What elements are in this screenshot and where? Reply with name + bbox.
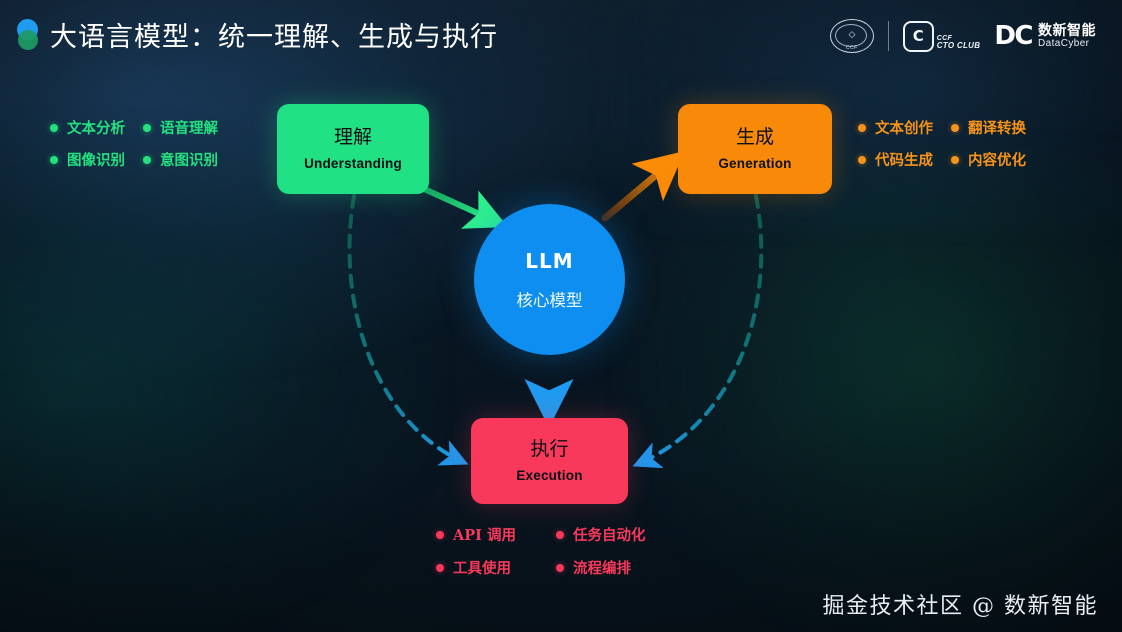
node-execution-label-en: Execution xyxy=(516,468,582,483)
logo-divider xyxy=(888,21,889,51)
bullet-item: 翻译转换 xyxy=(951,117,1026,138)
bullet-dot-icon xyxy=(50,124,58,132)
node-llm-label-cn: 核心模型 xyxy=(517,287,583,311)
bullet-dot-icon xyxy=(50,156,58,164)
cto-club-wordmark: CCF CTO CLUB xyxy=(937,35,981,52)
node-generation[interactable]: 生成 Generation xyxy=(678,104,832,194)
watermark-credit: 掘金技术社区 @ 数新智能 xyxy=(823,588,1099,620)
bullet-item: 流程编排 xyxy=(556,557,646,578)
datacyber-mark-icon: DC xyxy=(994,23,1032,49)
bullet-item: 工具使用 xyxy=(436,557,516,578)
bullet-dot-icon xyxy=(556,564,564,572)
bullet-item: 意图识别 xyxy=(143,149,218,170)
node-llm-label-en: LLM xyxy=(525,249,573,273)
bullet-item: 代码生成 xyxy=(858,149,933,170)
bullet-group-generation: 文本创作 翻译转换 代码生成 内容优化 xyxy=(858,117,1026,170)
bullet-dot-icon xyxy=(143,124,151,132)
slide-header: 大语言模型：统一理解、生成与执行 ◇ CCF C CCF CTO CLUB DC… xyxy=(0,0,1122,74)
node-execution-label-cn: 执行 xyxy=(530,439,568,460)
node-understanding[interactable]: 理解 Understanding xyxy=(277,104,429,194)
datacyber-logo: DC 数新智能 DataCyber xyxy=(994,23,1096,49)
logo-circle-green xyxy=(18,30,38,50)
bullet-dot-icon xyxy=(436,564,444,572)
bullet-label: API 调用 xyxy=(453,524,516,545)
cto-club-line2: CTO CLUB xyxy=(937,42,981,50)
bullet-dot-icon xyxy=(436,531,444,539)
bullet-label: 语音理解 xyxy=(160,117,218,138)
bullet-label: 文本分析 xyxy=(67,117,125,138)
bullet-group-understanding: 文本分析 语音理解 图像识别 意图识别 xyxy=(50,117,218,170)
bullet-label: 内容优化 xyxy=(968,149,1026,170)
node-execution[interactable]: 执行 Execution xyxy=(471,418,628,504)
node-llm-core[interactable]: LLM 核心模型 xyxy=(474,204,625,355)
bullet-item: 文本创作 xyxy=(858,117,933,138)
bullet-dot-icon xyxy=(951,156,959,164)
ccf-cto-club-logo: C CCF CTO CLUB xyxy=(903,21,981,52)
node-generation-label-en: Generation xyxy=(718,156,791,171)
slide-canvas: 大语言模型：统一理解、生成与执行 ◇ CCF C CCF CTO CLUB DC… xyxy=(0,0,1122,632)
node-understanding-label-cn: 理解 xyxy=(334,127,372,148)
bullet-group-execution: API 调用 任务自动化 工具使用 流程编排 xyxy=(436,524,645,578)
bullet-dot-icon xyxy=(556,531,564,539)
bullet-item: 文本分析 xyxy=(50,117,125,138)
bullet-label: 文本创作 xyxy=(875,117,933,138)
ccf-emblem-caption: CCF xyxy=(831,45,873,51)
bullet-item: 内容优化 xyxy=(951,149,1026,170)
ccf-emblem-inner-glyph: ◇ xyxy=(849,31,855,40)
datacyber-name-cn: 数新智能 xyxy=(1038,23,1096,38)
bullet-dot-icon xyxy=(143,156,151,164)
bullet-item: 图像识别 xyxy=(50,149,125,170)
bullet-label: 意图识别 xyxy=(160,149,218,170)
bullet-dot-icon xyxy=(858,124,866,132)
bullet-label: 工具使用 xyxy=(453,557,511,578)
bullet-label: 图像识别 xyxy=(67,149,125,170)
cto-club-badge-icon: C xyxy=(903,21,934,52)
bullet-label: 翻译转换 xyxy=(968,117,1026,138)
node-understanding-label-en: Understanding xyxy=(304,156,402,171)
bullet-dot-icon xyxy=(858,156,866,164)
datacyber-name-en: DataCyber xyxy=(1038,38,1096,49)
datacyber-wordmark: 数新智能 DataCyber xyxy=(1038,23,1096,49)
ccf-emblem-icon: ◇ CCF xyxy=(830,19,874,53)
bullet-item: 语音理解 xyxy=(143,117,218,138)
page-title: 大语言模型：统一理解、生成与执行 xyxy=(50,15,498,54)
bullet-dot-icon xyxy=(951,124,959,132)
bullet-label: 流程编排 xyxy=(573,557,631,578)
bullet-label: 代码生成 xyxy=(875,149,933,170)
bullet-item: API 调用 xyxy=(436,524,516,545)
bullet-item: 任务自动化 xyxy=(556,524,646,545)
overlapping-circles-logo-icon xyxy=(17,19,39,51)
bullet-label: 任务自动化 xyxy=(573,524,646,545)
sponsor-logo-group: ◇ CCF C CCF CTO CLUB DC 数新智能 DataCyber xyxy=(830,14,1096,58)
node-generation-label-cn: 生成 xyxy=(736,127,774,148)
